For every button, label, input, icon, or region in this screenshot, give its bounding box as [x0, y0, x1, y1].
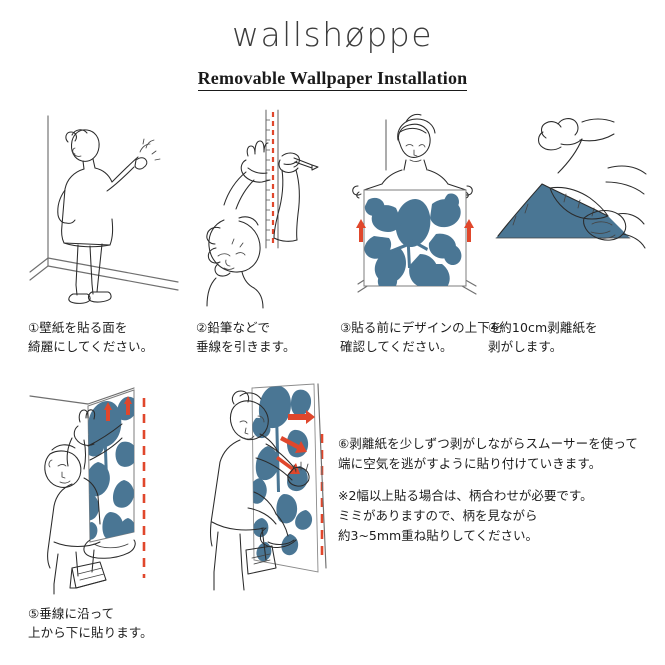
step-5-panel: ⑤垂線に沿って 上から下に貼ります。: [28, 382, 188, 594]
woman-cleaning-wall-illustration: [28, 108, 188, 308]
step-6-caption: ⑥剥離紙を少しずつ剥がしながらスムーサーを使って 端に空気を逃がすように貼り付け…: [338, 434, 658, 474]
step-5-caption: ⑤垂線に沿って 上から下に貼ります。: [28, 604, 198, 643]
step-3-panel: ③貼る前にデザインの上下を 確認してください。: [340, 108, 490, 308]
step-3-caption: ③貼る前にデザインの上下を 確認してください。: [340, 318, 510, 357]
apply-wallpaper-illustration: [28, 382, 188, 594]
peel-backing-illustration: [488, 108, 648, 308]
step-2-caption: ②鉛筆などで 垂線を引きます。: [196, 318, 336, 357]
brand-logo: wallshøppe: [0, 18, 665, 51]
step-4-caption: ④約10cm剥離紙を 剥がします。: [488, 318, 648, 357]
pattern-matching-note: ※2幅以上貼る場合は、柄合わせが必要です。 ミミがありますので、柄を見ながら 約…: [338, 486, 658, 546]
botanical-pattern: [364, 193, 461, 291]
plumb-line-illustration: [196, 108, 336, 308]
page-title: Removable Wallpaper Installation: [0, 68, 665, 89]
smoothing-wallpaper-illustration: [196, 382, 346, 594]
step-1-panel: ①壁紙を貼る面を 綺麗にしてください。: [28, 108, 188, 308]
page-title-text: Removable Wallpaper Installation: [198, 68, 468, 91]
step-6-panel: [196, 382, 346, 594]
instruction-sheet: wallshøppe Removable Wallpaper Installat…: [0, 0, 665, 665]
step-1-caption: ①壁紙を貼る面を 綺麗にしてください。: [28, 318, 188, 357]
step-4-panel: ④約10cm剥離紙を 剥がします。: [488, 108, 648, 308]
step-2-panel: ②鉛筆などで 垂線を引きます。: [196, 108, 336, 308]
wallpaper-orientation-illustration: [340, 108, 490, 308]
